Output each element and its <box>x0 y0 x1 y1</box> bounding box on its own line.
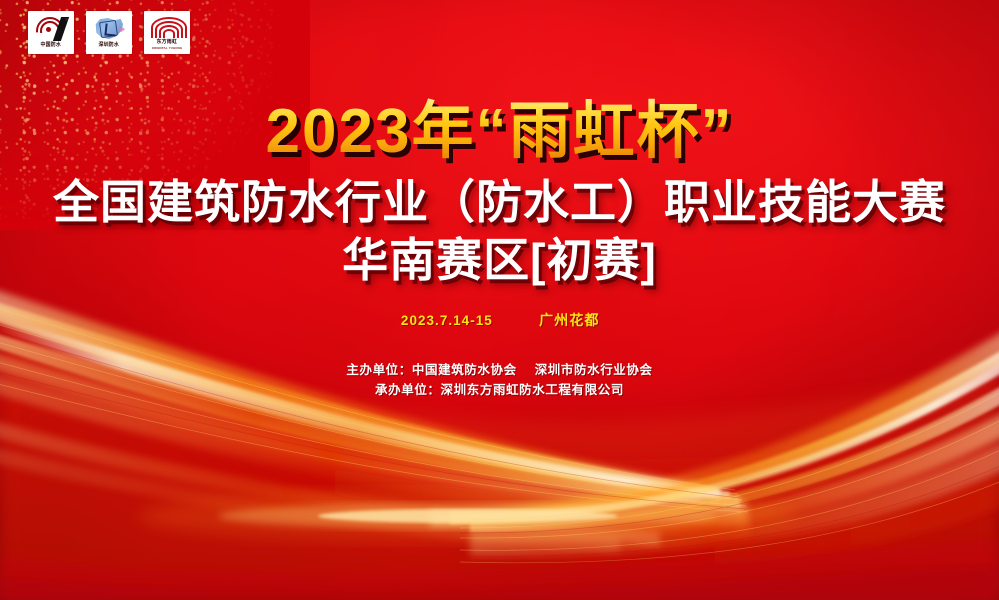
organizer-label: 主办单位： <box>346 363 412 377</box>
banner-subtitle-line-2: 华南赛区[初赛] <box>0 232 999 288</box>
host-line: 承办单位：深圳东方雨虹防水工程有限公司 <box>0 380 999 400</box>
host-label: 承办单位： <box>375 383 441 397</box>
logo-china-waterproof: ® 中国防水 <box>28 11 74 54</box>
event-date: 2023.7.14-15 <box>401 312 493 328</box>
organizer-line: 主办单位：中国建筑防水协会深圳市防水行业协会 <box>0 360 999 380</box>
banner-main-title: 2023年“雨虹杯” <box>0 96 999 168</box>
event-banner: ® 中国防水 深圳防水 东方雨虹 ORIENTAL YUHONG <box>0 0 999 600</box>
logo-oriental-yuhong: 东方雨虹 ORIENTAL YUHONG <box>144 11 190 54</box>
logo-caption: 中国防水 <box>41 42 61 48</box>
logo-caption-sub: ORIENTAL YUHONG <box>152 45 183 51</box>
organizer-name-2: 深圳市防水行业协会 <box>535 363 653 377</box>
event-location: 广州花都 <box>539 310 599 330</box>
blue-sketch-logo-icon <box>92 17 126 41</box>
logo-shenzhen-waterproof: 深圳防水 <box>86 11 132 54</box>
host-name-1: 深圳东方雨虹防水工程有限公司 <box>441 383 624 397</box>
banner-meta-row: 2023.7.14-15 广州花都 <box>0 310 999 330</box>
banner-subtitle-line-1: 全国建筑防水行业（防水工）职业技能大赛 <box>0 174 999 230</box>
organizer-name-1: 中国建筑防水协会 <box>412 363 517 377</box>
organizer-block: 主办单位：中国建筑防水协会深圳市防水行业协会 承办单位：深圳东方雨虹防水工程有限… <box>0 360 999 400</box>
rainbow-arc-logo-icon <box>150 14 184 38</box>
logo-caption: 深圳防水 <box>99 42 119 48</box>
registered-mark-icon: ® <box>65 17 68 22</box>
sponsor-logo-row: ® 中国防水 深圳防水 东方雨虹 ORIENTAL YUHONG <box>28 11 190 54</box>
banner-content: 2023年“雨虹杯” 全国建筑防水行业（防水工）职业技能大赛 华南赛区[初赛] … <box>0 0 999 400</box>
concentric-arc-slash-logo-icon: ® <box>34 17 68 41</box>
